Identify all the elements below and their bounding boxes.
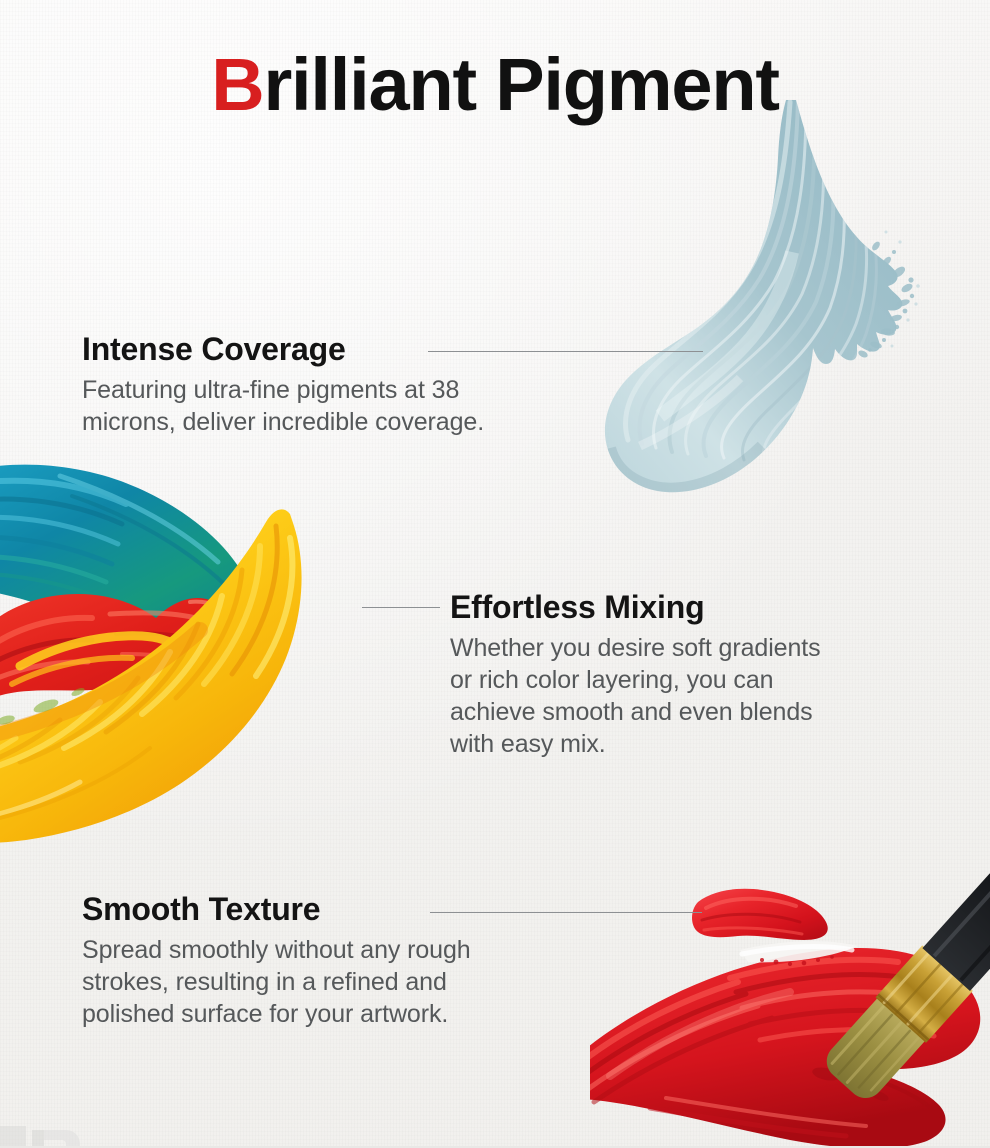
feature-body-line: or rich color layering, you can: [450, 666, 773, 694]
watermark-fragment: [0, 1122, 92, 1148]
feature-heading-intense-coverage: Intense Coverage: [82, 330, 642, 368]
feature-body-line: Whether you desire soft gradients: [450, 634, 821, 662]
feature-smooth-texture: Smooth Texture Spread smoothly without a…: [82, 890, 642, 1030]
feature-heading-effortless-mixing: Effortless Mixing: [450, 588, 920, 626]
page-title-rest: rilliant Pigment: [263, 43, 778, 126]
feature-body-intense-coverage: Featuring ultra-fine pigments at 38 micr…: [82, 374, 642, 438]
feature-body-line: with easy mix.: [450, 730, 606, 758]
connector-line-effortless-mixing: [362, 607, 440, 608]
multicolor-paint-swirl: [0, 452, 380, 872]
feature-body-line: achieve smooth and even blends: [450, 698, 813, 726]
feature-heading-smooth-texture: Smooth Texture: [82, 890, 642, 928]
feature-body-line: strokes, resulting in a refined and: [82, 968, 447, 996]
feature-body-effortless-mixing: Whether you desire soft gradients or ric…: [450, 632, 920, 760]
poster-root: Brilliant Pigment: [0, 0, 990, 1148]
page-title: Brilliant Pigment: [0, 42, 990, 128]
red-paint-dab: [692, 889, 828, 940]
feature-effortless-mixing: Effortless Mixing Whether you desire sof…: [450, 588, 920, 760]
feature-body-line: microns, deliver incredible coverage.: [82, 408, 484, 436]
feature-body-smooth-texture: Spread smoothly without any rough stroke…: [82, 934, 642, 1030]
feature-body-line: Spread smoothly without any rough: [82, 936, 471, 964]
feature-body-line: polished surface for your artwork.: [82, 1000, 448, 1028]
feature-body-line: Featuring ultra-fine pigments at 38: [82, 376, 459, 404]
teal-paint-stroke: [600, 96, 960, 516]
page-title-accent-letter: B: [211, 43, 263, 126]
feature-intense-coverage: Intense Coverage Featuring ultra-fine pi…: [82, 330, 642, 438]
red-paint-stroke-with-brush: [590, 862, 990, 1148]
